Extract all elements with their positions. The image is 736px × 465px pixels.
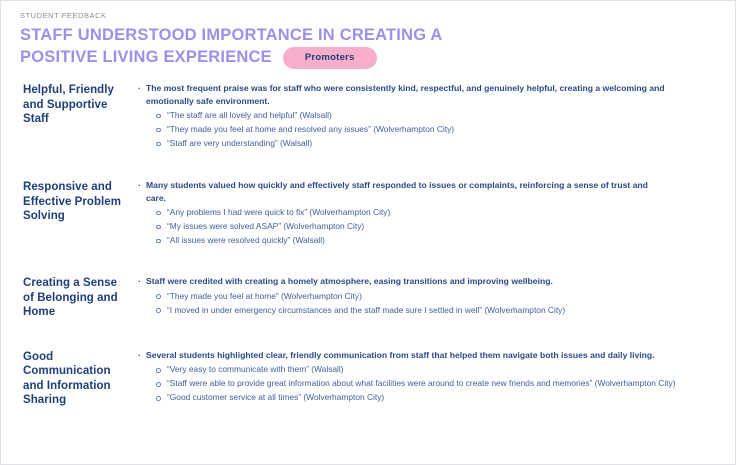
list-item: “My issues were solved ASAP” (Wolverhamp… xyxy=(138,219,735,233)
status-badge-promoters[interactable]: Promoters xyxy=(283,47,377,69)
sections-container: Helpful, Friendly and Supportive Staff ·… xyxy=(1,68,735,408)
page-title-line-2: POSITIVE LIVING EXPERIENCE xyxy=(20,46,272,68)
section-lead: · Several students highlighted clear, fr… xyxy=(138,349,735,362)
quote-text: “Very easy to communicate with them” (Wa… xyxy=(167,362,344,376)
quote-list: “They made you feel at home” (Wolverhamp… xyxy=(138,289,735,317)
hollow-bullet-icon xyxy=(156,122,167,132)
quote-text: “Staff were able to provide great inform… xyxy=(167,376,675,390)
quote-text: “They made you feel at home and resolved… xyxy=(167,122,454,136)
hollow-bullet-icon xyxy=(156,219,167,229)
list-item: “Very easy to communicate with them” (Wa… xyxy=(138,362,735,376)
quote-list: “Any problems I had were quick to fix” (… xyxy=(138,205,735,247)
hollow-bullet-icon xyxy=(156,108,167,118)
quote-text: “They made you feel at home” (Wolverhamp… xyxy=(167,289,362,303)
hollow-bullet-icon xyxy=(156,136,167,146)
page-title-line-1: STAFF UNDERSTOOD IMPORTANCE IN CREATING … xyxy=(20,24,735,46)
section-lead-text: Many students valued how quickly and eff… xyxy=(146,179,666,204)
feedback-section: Good Communication and Information Shari… xyxy=(1,349,735,408)
hollow-bullet-icon xyxy=(156,390,167,400)
section-lead-text: Staff were credited with creating a home… xyxy=(146,275,553,288)
section-body: · The most frequent praise was for staff… xyxy=(131,82,735,150)
eyebrow-label: STUDENT FEEDBACK xyxy=(20,10,735,21)
section-title: Creating a Sense of Belonging and Home xyxy=(23,275,131,320)
section-lead-text: The most frequent praise was for staff w… xyxy=(146,82,666,107)
list-item: “Any problems I had were quick to fix” (… xyxy=(138,205,735,219)
list-item: “The staff are all lovely and helpful” (… xyxy=(138,108,735,122)
quote-list: “Very easy to communicate with them” (Wa… xyxy=(138,362,735,404)
quote-text: “My issues were solved ASAP” (Wolverhamp… xyxy=(167,219,364,233)
feedback-section: Responsive and Effective Problem Solving… xyxy=(1,179,735,247)
list-item: “Staff are very understanding” (Walsall) xyxy=(138,136,735,150)
list-item: “All issues were resolved quickly” (Wals… xyxy=(138,233,735,247)
page-title-line-2-row: POSITIVE LIVING EXPERIENCE Promoters xyxy=(20,46,735,68)
quote-text: “Good customer service at all times” (Wo… xyxy=(167,390,384,404)
list-item: “I moved in under emergency circumstance… xyxy=(138,303,735,317)
section-title: Helpful, Friendly and Supportive Staff xyxy=(23,82,131,127)
section-lead: · The most frequent praise was for staff… xyxy=(138,82,735,107)
section-title: Responsive and Effective Problem Solving xyxy=(23,179,131,224)
section-lead-text: Several students highlighted clear, frie… xyxy=(146,349,655,362)
feedback-section: Helpful, Friendly and Supportive Staff ·… xyxy=(1,82,735,150)
quote-text: “I moved in under emergency circumstance… xyxy=(167,303,565,317)
bullet-marker-icon: · xyxy=(138,179,146,192)
section-lead: · Staff were credited with creating a ho… xyxy=(138,275,735,288)
quote-text: “Staff are very understanding” (Walsall) xyxy=(167,136,312,150)
quote-text: “Any problems I had were quick to fix” (… xyxy=(167,205,390,219)
quote-list: “The staff are all lovely and helpful” (… xyxy=(138,108,735,150)
feedback-section: Creating a Sense of Belonging and Home ·… xyxy=(1,275,735,320)
list-item: “Staff were able to provide great inform… xyxy=(138,376,735,390)
quote-text: “All issues were resolved quickly” (Wals… xyxy=(167,233,325,247)
page-title: STAFF UNDERSTOOD IMPORTANCE IN CREATING … xyxy=(20,24,735,68)
section-lead: · Many students valued how quickly and e… xyxy=(138,179,735,204)
hollow-bullet-icon xyxy=(156,303,167,313)
hollow-bullet-icon xyxy=(156,289,167,299)
hollow-bullet-icon xyxy=(156,233,167,243)
quote-text: “The staff are all lovely and helpful” (… xyxy=(167,108,332,122)
bullet-marker-icon: · xyxy=(138,82,146,95)
section-body: · Staff were credited with creating a ho… xyxy=(131,275,735,317)
hollow-bullet-icon xyxy=(156,376,167,386)
list-item: “They made you feel at home and resolved… xyxy=(138,122,735,136)
bullet-marker-icon: · xyxy=(138,275,146,288)
hollow-bullet-icon xyxy=(156,362,167,372)
list-item: “They made you feel at home” (Wolverhamp… xyxy=(138,289,735,303)
section-title: Good Communication and Information Shari… xyxy=(23,349,131,408)
bullet-marker-icon: · xyxy=(138,349,146,362)
slide-canvas: STUDENT FEEDBACK STAFF UNDERSTOOD IMPORT… xyxy=(0,0,736,465)
section-body: · Many students valued how quickly and e… xyxy=(131,179,735,247)
hollow-bullet-icon xyxy=(156,205,167,215)
slide-header: STUDENT FEEDBACK STAFF UNDERSTOOD IMPORT… xyxy=(1,1,735,68)
section-body: · Several students highlighted clear, fr… xyxy=(131,349,735,405)
list-item: “Good customer service at all times” (Wo… xyxy=(138,390,735,404)
